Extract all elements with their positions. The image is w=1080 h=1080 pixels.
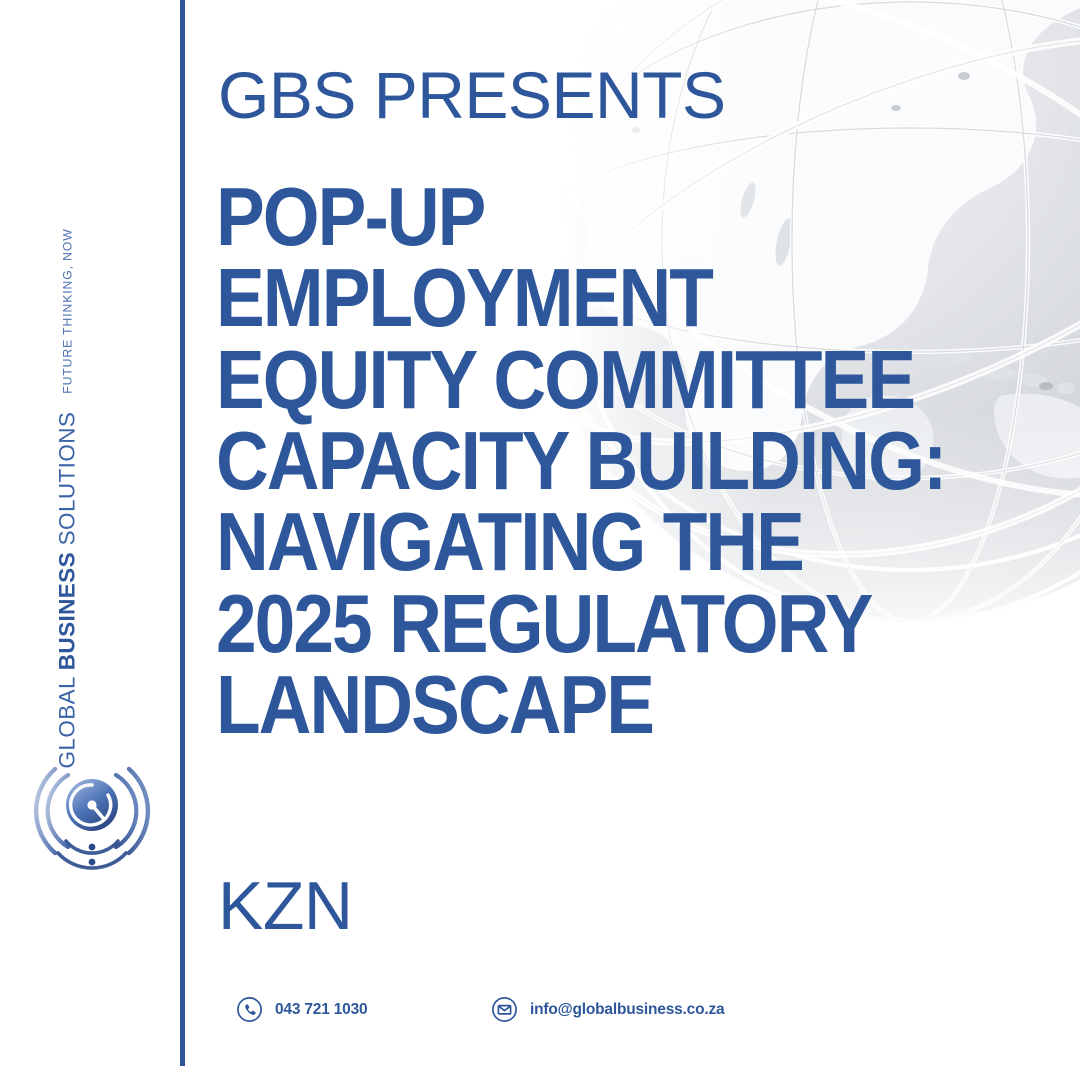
headline-line: NAVIGATING THE [216, 501, 976, 582]
mail-icon [491, 996, 518, 1023]
headline-line: LANDSCAPE [216, 664, 976, 745]
logo-company-name: GLOBAL BUSINESS SOLUTIONS [54, 412, 80, 769]
phone-number: 043 721 1030 [275, 1001, 367, 1019]
gauge-circle-waves-icon [22, 745, 162, 870]
phone-icon [236, 996, 263, 1023]
logo-name-solutions: SOLUTIONS [54, 412, 79, 552]
contact-email[interactable]: info@globalbusiness.co.za [491, 996, 724, 1023]
headline-line: CAPACITY BUILDING: [216, 420, 976, 501]
logo-tagline: FUTURE THINKING, NOW [60, 228, 74, 393]
eyebrow-text: GBS PRESENTS [218, 62, 725, 128]
logo-name-business: BUSINESS [54, 552, 79, 670]
headline-line: 2025 REGULATORY [216, 583, 976, 664]
contact-footer: 043 721 1030 info@globalbusiness.co.za [236, 996, 724, 1023]
location-subtitle: KZN [218, 872, 353, 940]
brand-logo: GLOBAL BUSINESS SOLUTIONS FUTURE THINKIN… [0, 390, 180, 910]
logo-wordmark: GLOBAL BUSINESS SOLUTIONS FUTURE THINKIN… [49, 399, 86, 769]
headline-line: EMPLOYMENT [216, 257, 976, 338]
headline-line: EQUITY COMMITTEE [216, 339, 976, 420]
poster-content: GBS PRESENTS POP-UP EMPLOYMENT EQUITY CO… [216, 0, 1080, 1080]
email-address: info@globalbusiness.co.za [530, 1001, 724, 1019]
vertical-divider [180, 0, 185, 1066]
page-title: POP-UP EMPLOYMENT EQUITY COMMITTEE CAPAC… [216, 176, 1080, 745]
headline-line: POP-UP [216, 176, 976, 257]
contact-phone[interactable]: 043 721 1030 [236, 996, 491, 1023]
